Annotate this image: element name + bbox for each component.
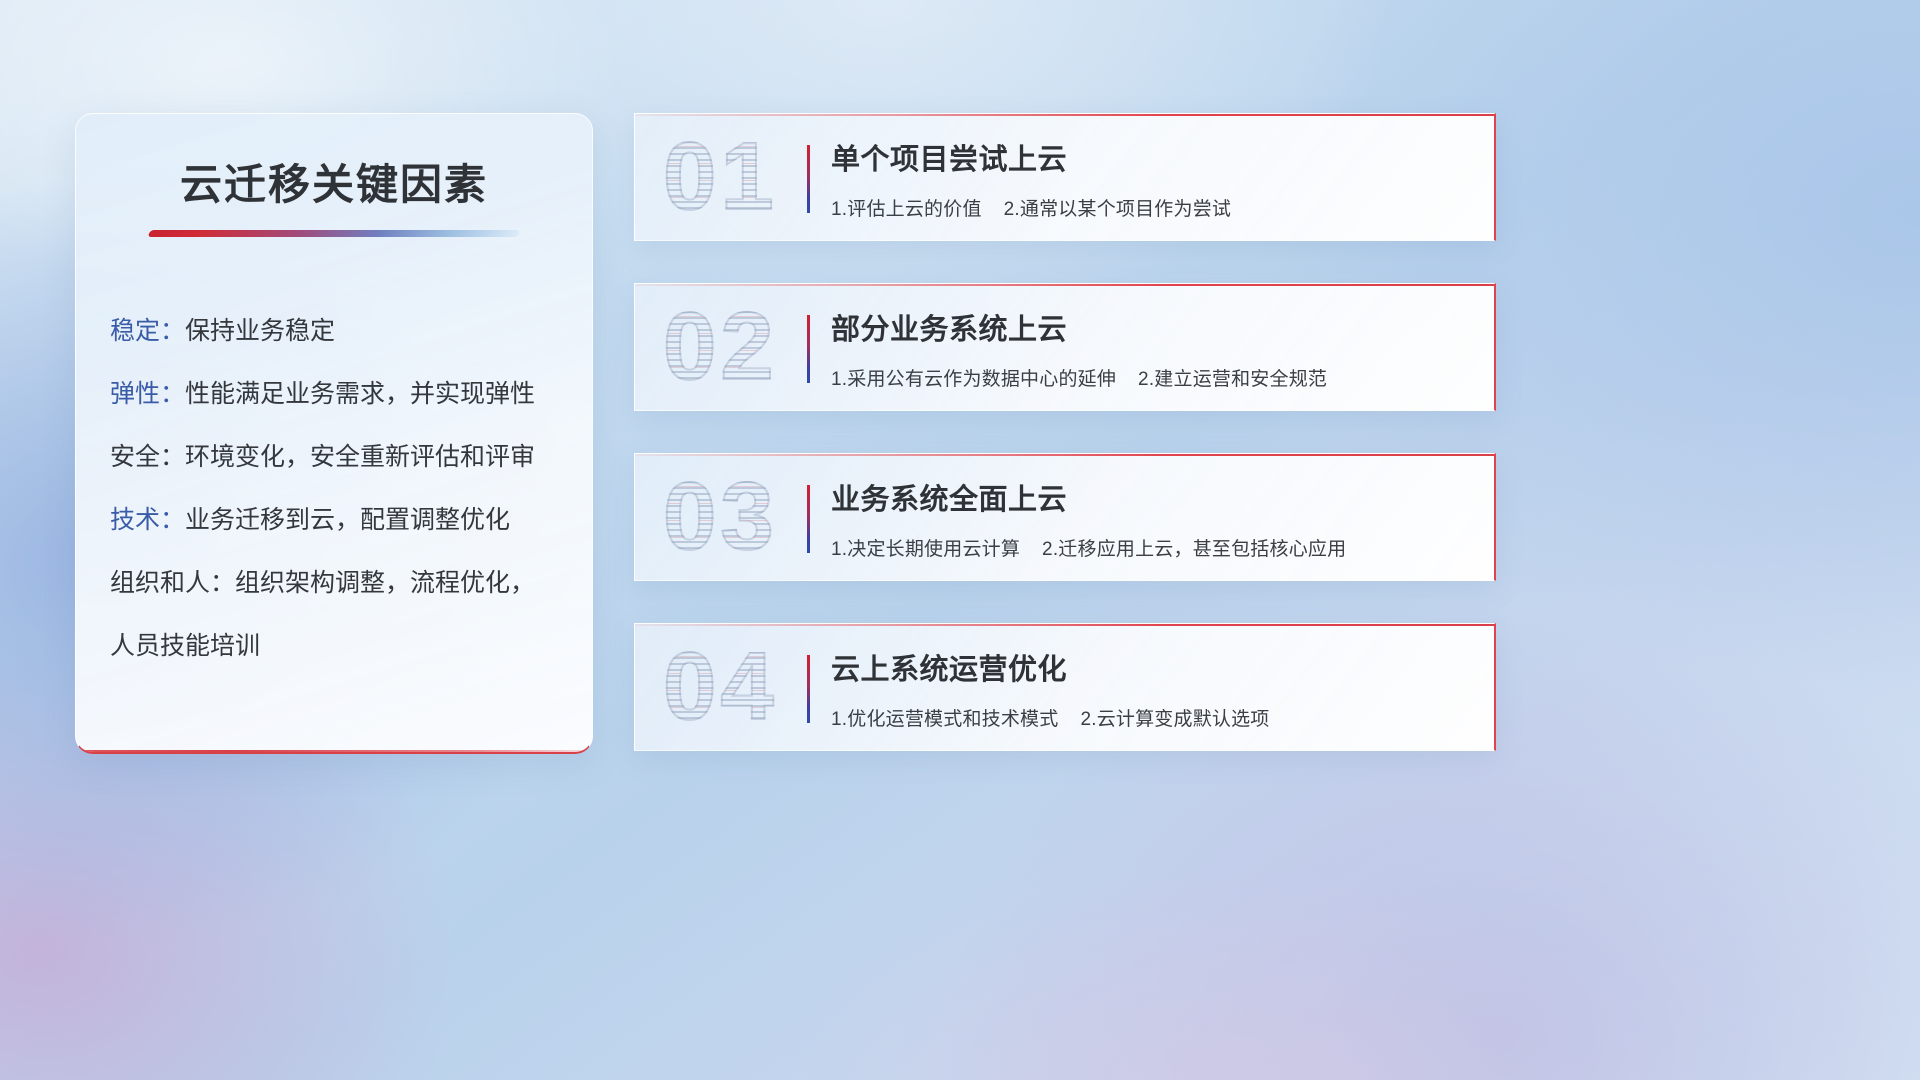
step-title: 单个项目尝试上云 <box>831 136 1472 178</box>
page-title: 云迁移关键因素 <box>76 151 592 212</box>
step-description: 1.评估上云的价值2.通常以某个项目作为尝试 <box>831 194 1472 221</box>
step-description: 1.决定长期使用云计算2.迁移应用上云，甚至包括核心应用 <box>831 534 1472 561</box>
factor-value: 人员技能培训 <box>110 632 260 660</box>
step-description-item: 2.通常以某个项目作为尝试 <box>1004 199 1231 220</box>
factor-label: 技术： <box>110 506 185 534</box>
step-title: 云上系统运营优化 <box>831 646 1472 688</box>
step-number-watermark: 02 <box>663 299 778 395</box>
title-underline-rule <box>147 230 520 237</box>
step-description-item: 2.云计算变成默认选项 <box>1080 709 1269 730</box>
step-description-item: 1.评估上云的价值 <box>831 199 982 220</box>
step-number-watermark: 03 <box>663 469 778 565</box>
factor-label: 组织和人： <box>110 569 235 597</box>
factor-value: 组织架构调整，流程优化， <box>235 569 535 597</box>
factor-item: 组织和人：组织架构调整，流程优化， <box>110 552 570 615</box>
step-body: 云上系统运营优化1.优化运营模式和技术模式2.云计算变成默认选项 <box>831 646 1472 731</box>
step-description: 1.优化运营模式和技术模式2.云计算变成默认选项 <box>831 704 1472 731</box>
step-card[interactable]: 0101单个项目尝试上云1.评估上云的价值2.通常以某个项目作为尝试 <box>634 113 1496 241</box>
step-divider-bar <box>807 655 810 723</box>
factor-label: 安全： <box>110 443 185 471</box>
factor-value: 保持业务稳定 <box>185 317 335 345</box>
factor-value: 性能满足业务需求，并实现弹性 <box>185 380 535 408</box>
factor-item: 安全：环境变化，安全重新评估和评审 <box>110 426 570 489</box>
factor-item: 人员技能培训 <box>110 615 570 678</box>
step-card[interactable]: 0404云上系统运营优化1.优化运营模式和技术模式2.云计算变成默认选项 <box>634 623 1496 751</box>
factor-item: 技术：业务迁移到云，配置调整优化 <box>110 489 570 552</box>
factor-value: 环境变化，安全重新评估和评审 <box>185 443 535 471</box>
slide-canvas: 云迁移关键因素 稳定：保持业务稳定弹性：性能满足业务需求，并实现弹性安全：环境变… <box>0 0 1920 1080</box>
factor-item: 稳定：保持业务稳定 <box>110 300 570 363</box>
step-number-watermark: 04 <box>663 639 778 735</box>
step-card[interactable]: 0303业务系统全面上云1.决定长期使用云计算2.迁移应用上云，甚至包括核心应用 <box>634 453 1496 581</box>
step-body: 单个项目尝试上云1.评估上云的价值2.通常以某个项目作为尝试 <box>831 136 1472 221</box>
factor-value: 业务迁移到云，配置调整优化 <box>185 506 510 534</box>
step-description-item: 2.迁移应用上云，甚至包括核心应用 <box>1042 539 1346 560</box>
step-description: 1.采用公有云作为数据中心的延伸2.建立运营和安全规范 <box>831 364 1472 391</box>
step-description-item: 1.采用公有云作为数据中心的延伸 <box>831 369 1116 390</box>
step-body: 业务系统全面上云1.决定长期使用云计算2.迁移应用上云，甚至包括核心应用 <box>831 476 1472 561</box>
key-factors-list: 稳定：保持业务稳定弹性：性能满足业务需求，并实现弹性安全：环境变化，安全重新评估… <box>76 300 592 678</box>
step-description-item: 1.优化运营模式和技术模式 <box>831 709 1058 730</box>
factor-label: 弹性： <box>110 380 185 408</box>
factor-item: 弹性：性能满足业务需求，并实现弹性 <box>110 363 570 426</box>
step-number-watermark: 01 <box>663 129 778 225</box>
step-description-item: 1.决定长期使用云计算 <box>831 539 1020 560</box>
step-body: 部分业务系统上云1.采用公有云作为数据中心的延伸2.建立运营和安全规范 <box>831 306 1472 391</box>
step-divider-bar <box>807 145 810 213</box>
step-title: 部分业务系统上云 <box>831 306 1472 348</box>
key-factors-panel: 云迁移关键因素 稳定：保持业务稳定弹性：性能满足业务需求，并实现弹性安全：环境变… <box>75 113 593 754</box>
step-card[interactable]: 0202部分业务系统上云1.采用公有云作为数据中心的延伸2.建立运营和安全规范 <box>634 283 1496 411</box>
step-description-item: 2.建立运营和安全规范 <box>1138 369 1327 390</box>
step-title: 业务系统全面上云 <box>831 476 1472 518</box>
factor-label: 稳定： <box>110 317 185 345</box>
step-divider-bar <box>807 485 810 553</box>
cloud-migration-steps: 0101单个项目尝试上云1.评估上云的价值2.通常以某个项目作为尝试0202部分… <box>634 113 1496 751</box>
step-divider-bar <box>807 315 810 383</box>
